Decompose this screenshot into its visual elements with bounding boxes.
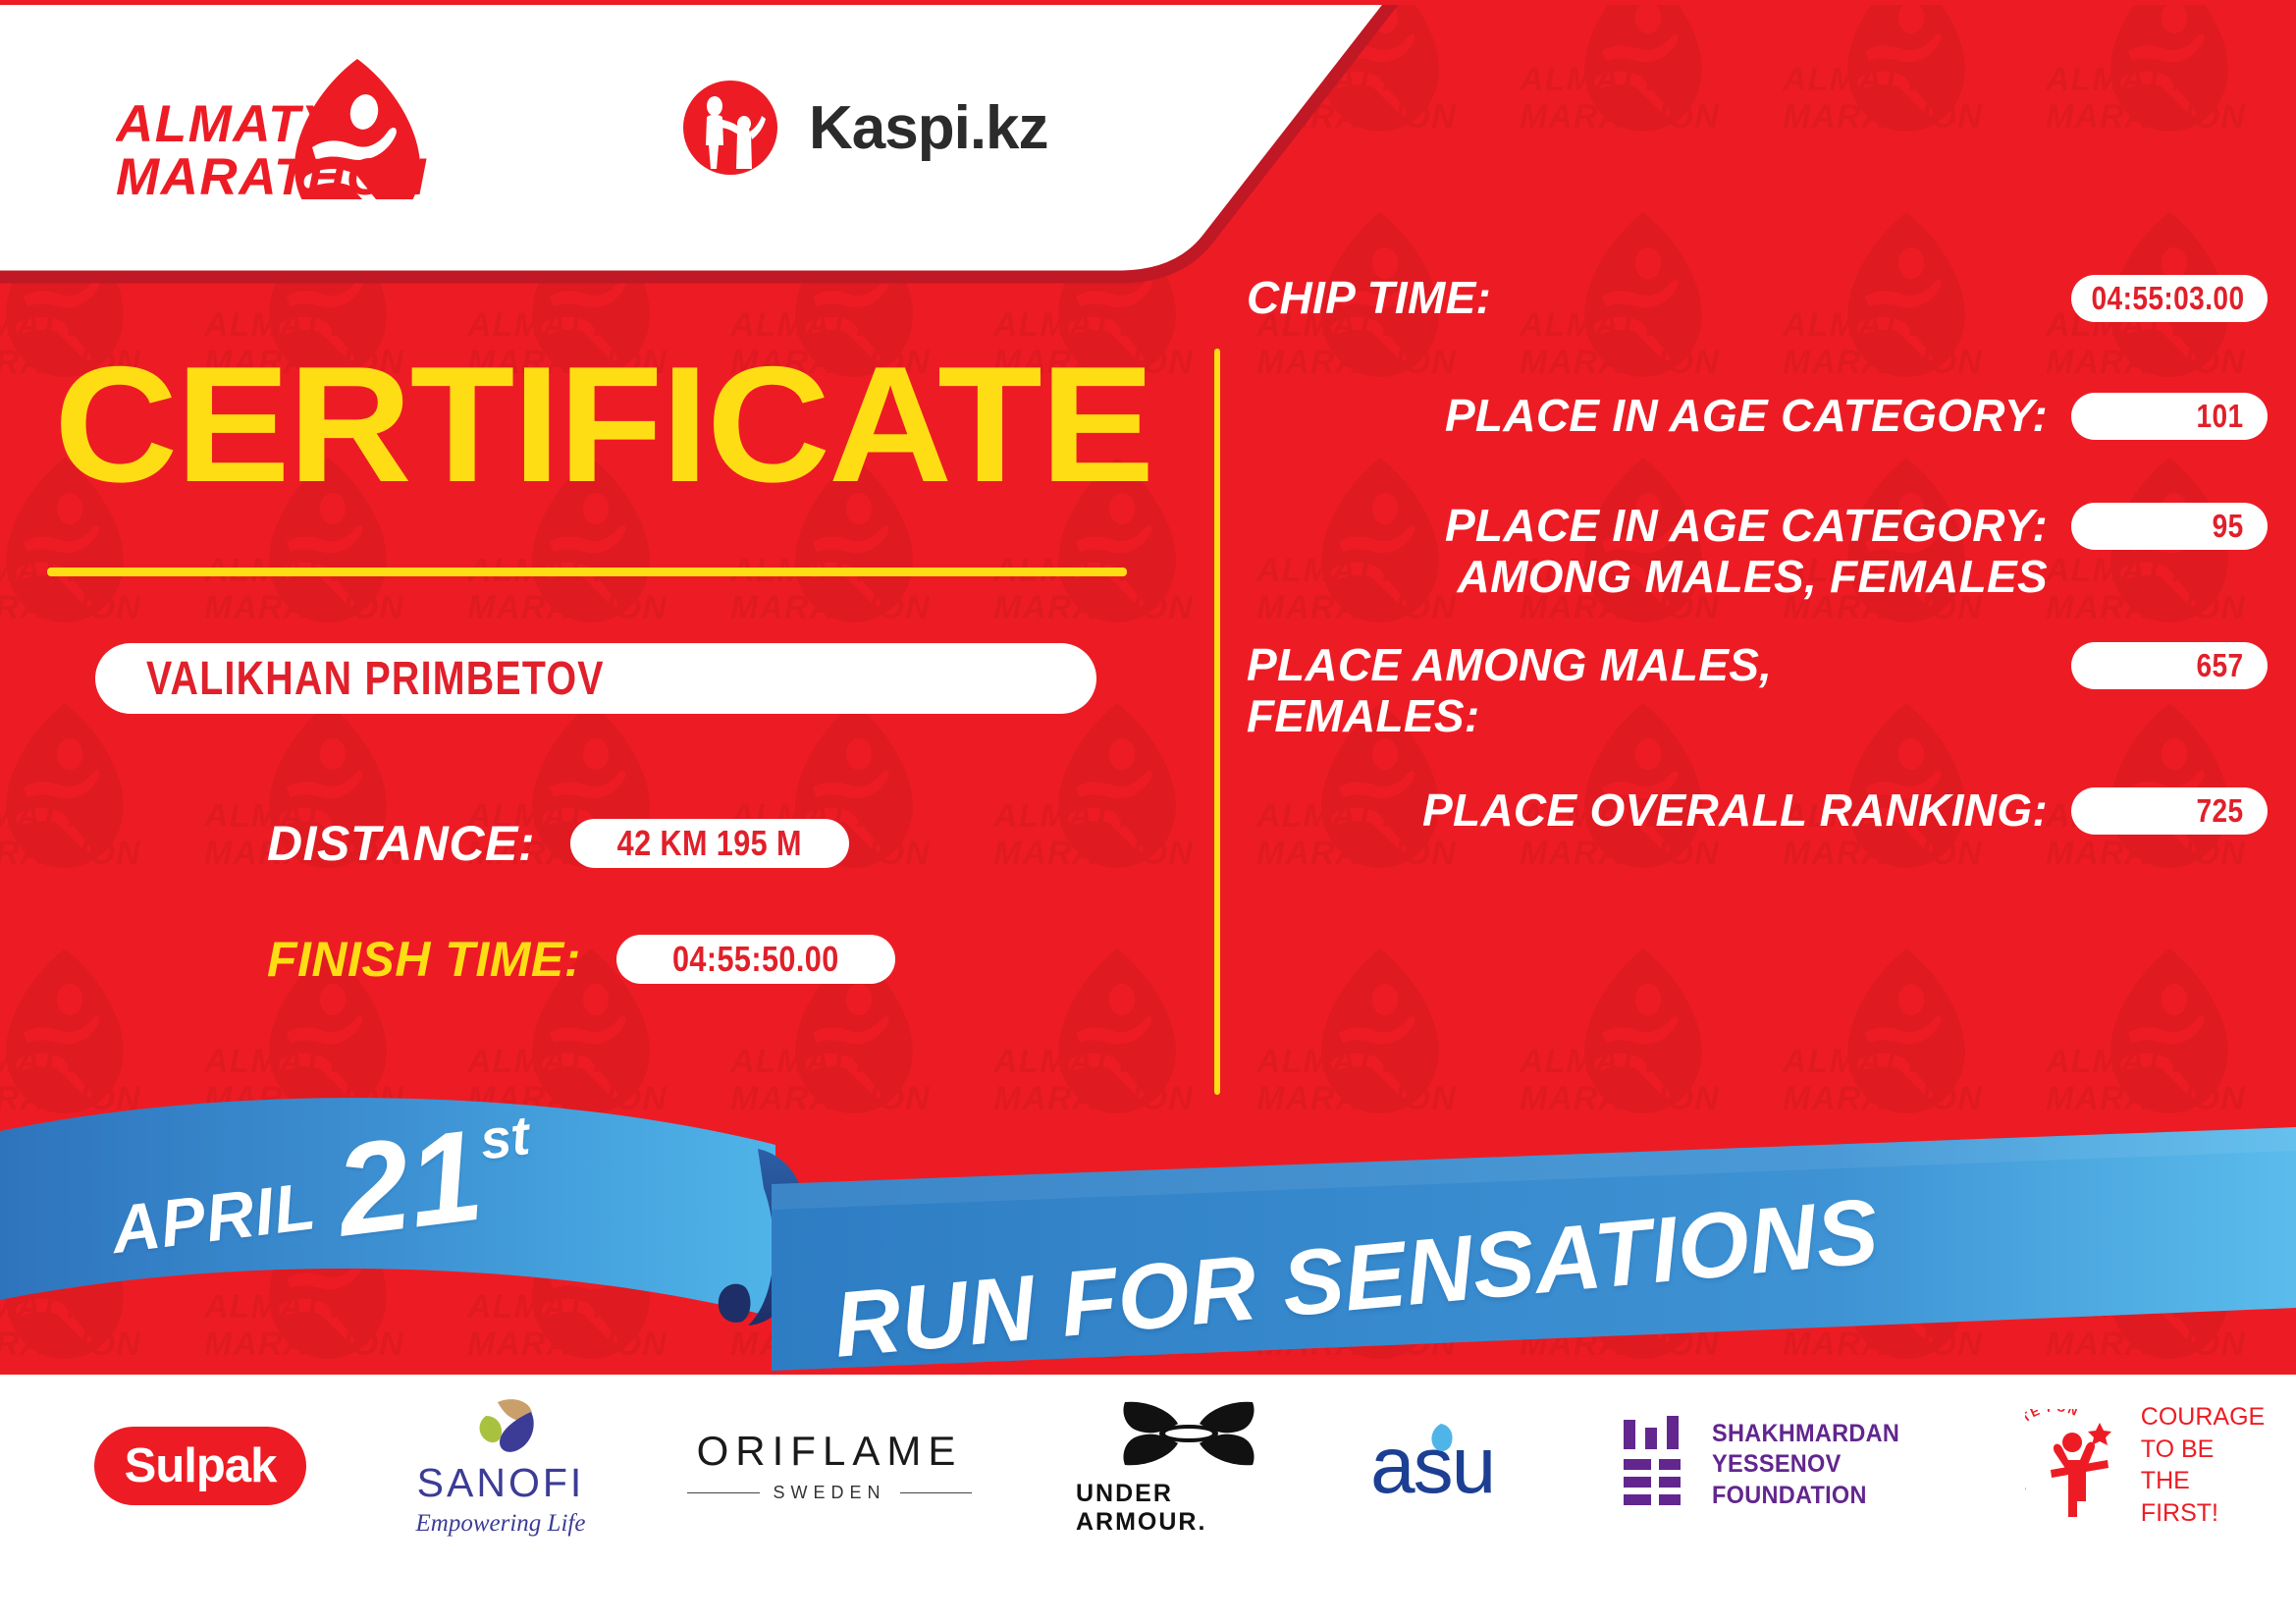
courage-wordmark: COURAGE TO BE THE FIRST! [2141, 1401, 2265, 1529]
kaspi-logo: Kaspi.kz [677, 74, 1090, 182]
sponsor-logo-sulpak: Sulpak [94, 1424, 306, 1508]
result-row: PLACE IN AGE CATEGORY: 101 [1247, 391, 2268, 442]
courage-line3: THE FIRST! [2141, 1467, 2218, 1527]
result-value: 95 [2213, 508, 2244, 545]
sponsor-logo-oriflame: ORIFLAME SWEDEN [687, 1426, 972, 1504]
result-value-pill: 657 [2071, 642, 2268, 689]
svg-text:ALMATY: ALMATY [116, 95, 341, 153]
result-value-pill: 725 [2071, 787, 2268, 835]
yessenov-bars-icon [1620, 1416, 1690, 1515]
courage-lockup: CORPORATE FUND COURAGE TO BE THE FIRST! [2025, 1401, 2265, 1529]
result-value-pill: 101 [2071, 393, 2268, 440]
oriflame-rule-left [687, 1492, 760, 1493]
distance-row: DISTANCE: 42 KM 195 M [267, 815, 849, 872]
sponsor-logo-sanofi: SANOFI Empowering Life [393, 1404, 609, 1532]
oriflame-wordmark: ORIFLAME [697, 1428, 963, 1475]
sponsor-logo-under-armour: UNDER ARMOUR. [1076, 1412, 1302, 1522]
sanofi-tagline: Empowering Life [416, 1510, 586, 1538]
event-day-suffix: st [476, 1103, 532, 1172]
result-label: PLACE OVERALL RANKING: [1247, 785, 2048, 837]
result-value: 04:55:03.00 [2091, 280, 2244, 317]
finish-time-label: FINISH TIME: [267, 931, 581, 988]
sanofi-wordmark: SANOFI [417, 1460, 585, 1506]
courage-line2: TO BE [2141, 1435, 2215, 1463]
under-armour-wordmark: UNDER ARMOUR. [1076, 1480, 1302, 1537]
sponsor-strip: Sulpak SANOFI Empowering Life ORIFLAME S… [0, 1394, 2296, 1624]
yessenov-line2: FOUNDATION [1712, 1482, 1867, 1509]
result-label: PLACE IN AGE CATEGORY:AMONG MALES, FEMAL… [1247, 501, 2048, 602]
finish-time-value-pill: 04:55:50.00 [616, 935, 895, 984]
oriflame-rule-right [900, 1492, 973, 1493]
result-value-pill: 95 [2071, 503, 2268, 550]
distance-label: DISTANCE: [267, 815, 535, 872]
participant-name-field: VALIKHAN PRIMBETOV [95, 643, 1096, 714]
event-month: APRIL [107, 1167, 320, 1269]
courage-runner-icon: CORPORATE FUND [2025, 1409, 2127, 1522]
yessenov-lockup: SHAKHMARDAN YESSENOV FOUNDATION [1620, 1416, 1953, 1515]
distance-value-pill: 42 KM 195 M [570, 819, 849, 868]
finish-time-row: FINISH TIME: 04:55:50.00 [267, 931, 895, 988]
under-armour-icon [1115, 1398, 1262, 1474]
top-accent-line [0, 0, 2296, 5]
header-logos: ALMATY MARATHON Kaspi.kz [0, 0, 2296, 285]
distance-value: 42 KM 195 M [617, 823, 802, 864]
certificate-page: ALMATY MARATHON [0, 0, 2296, 1624]
result-value: 657 [2197, 647, 2244, 684]
event-day: 21 [331, 1117, 488, 1251]
svg-text:asu: asu [1370, 1421, 1494, 1510]
result-value: 725 [2197, 792, 2244, 830]
sulpak-wordmark: Sulpak [125, 1438, 277, 1493]
result-row: PLACE IN AGE CATEGORY:AMONG MALES, FEMAL… [1247, 501, 2268, 602]
result-row: PLACE OVERALL RANKING: 725 [1247, 785, 2268, 837]
kaspi-wordmark: Kaspi.kz [809, 93, 1048, 163]
svg-text:MARATHON: MARATHON [116, 148, 427, 199]
almaty-marathon-logo: ALMATY MARATHON [116, 57, 440, 199]
sponsor-logo-asu: asu [1370, 1416, 1557, 1510]
result-row: PLACE AMONG MALES,FEMALES: 657 [1247, 640, 2268, 741]
sponsor-logo-courage-fund: CORPORATE FUND COURAGE TO BE THE FIRST! [2032, 1406, 2258, 1524]
result-label: PLACE AMONG MALES,FEMALES: [1247, 640, 2048, 741]
kaspi-people-circle-icon [677, 75, 783, 181]
yessenov-line1: SHAKHMARDAN YESSENOV [1712, 1420, 1899, 1478]
title-divider [47, 568, 1127, 576]
oriflame-subline: SWEDEN [687, 1483, 972, 1503]
finish-time-value: 04:55:50.00 [672, 939, 839, 980]
column-divider [1214, 349, 1220, 1095]
courage-line1: COURAGE [2141, 1403, 2265, 1431]
participant-name: VALIKHAN PRIMBETOV [146, 652, 605, 706]
sanofi-leaf-icon [462, 1398, 539, 1460]
oriflame-tagline: SWEDEN [774, 1483, 886, 1503]
sulpak-pill: Sulpak [94, 1427, 306, 1505]
yessenov-wordmark: SHAKHMARDAN YESSENOV FOUNDATION [1712, 1419, 1939, 1511]
result-value: 101 [2197, 398, 2244, 435]
page-title: CERTIFICATE [54, 342, 1152, 507]
sponsor-logo-yessenov: SHAKHMARDAN YESSENOV FOUNDATION [1620, 1416, 1953, 1514]
result-label: PLACE IN AGE CATEGORY: [1247, 391, 2048, 442]
